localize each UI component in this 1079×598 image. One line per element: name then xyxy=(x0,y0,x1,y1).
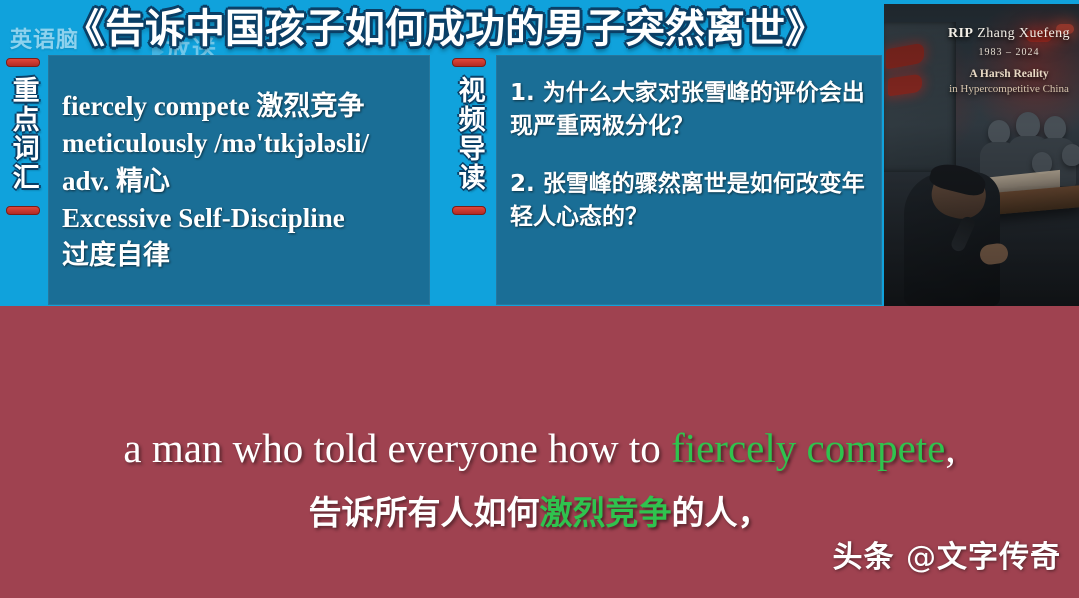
top-information-panel: 英语脑 放送 《告诉中国孩子如何成功的男子突然离世》 重点词汇 视频导读 fie… xyxy=(0,0,1079,306)
subtitle-chinese: 告诉所有人如何激烈竞争的人， xyxy=(0,486,1079,534)
subtitle-english-highlight: fiercely compete xyxy=(671,425,945,471)
crowd-silhouette xyxy=(1044,116,1066,140)
subtitle-chinese-highlight: 激烈竞争 xyxy=(540,493,672,532)
dash-divider-top xyxy=(6,58,40,67)
video-guide-questions-card: 1. 为什么大家对张雪峰的评价会出现严重两极分化？ 2. 张雪峰的骤然离世是如何… xyxy=(496,55,882,305)
crowd-silhouette xyxy=(1016,112,1040,138)
memorial-poster-image: RIP Zhang Xuefeng 1983 – 2024 A Harsh Re… xyxy=(884,4,1079,306)
vocabulary-line: adv. 精心 xyxy=(62,163,430,200)
subtitle-english: a man who told everyone how to fiercely … xyxy=(0,424,1079,472)
slumped-figure-hand xyxy=(979,242,1010,266)
crowd-silhouette xyxy=(988,120,1010,144)
dash-divider-bottom xyxy=(6,206,40,215)
brand-account-label: 文字传奇 xyxy=(937,540,1061,575)
guide-question-1: 1. 为什么大家对张雪峰的评价会出现严重两极分化？ xyxy=(510,77,870,142)
vocabulary-card: fiercely compete 激烈竞争 meticulously /mə't… xyxy=(48,55,430,305)
crowd-silhouette xyxy=(1062,144,1079,166)
subtitle-area: a man who told everyone how to fiercely … xyxy=(0,306,1079,598)
poster-text-block: RIP Zhang Xuefeng 1983 – 2024 A Harsh Re… xyxy=(942,26,1076,95)
poster-tagline-1: A Harsh Reality xyxy=(942,68,1076,80)
dash-divider-top xyxy=(452,58,486,67)
poster-rip-title: RIP Zhang Xuefeng xyxy=(942,26,1076,42)
at-symbol-icon: @ xyxy=(906,540,937,575)
poster-rip-name: Zhang Xuefeng xyxy=(977,26,1070,41)
page-title: 《告诉中国孩子如何成功的男子突然离世》 xyxy=(0,0,890,54)
vocabulary-line: fiercely compete 激烈竞争 xyxy=(62,88,430,125)
subtitle-chinese-before: 告诉所有人如何 xyxy=(309,493,540,532)
dash-divider-bottom xyxy=(452,206,486,215)
subtitle-english-after: , xyxy=(945,425,955,471)
poster-rip-prefix: RIP xyxy=(948,26,973,41)
section-label-video-guide: 视频导读 xyxy=(448,58,490,215)
brand-platform-label: 头条 xyxy=(833,540,895,575)
poster-life-dates: 1983 – 2024 xyxy=(942,47,1076,58)
section-label-video-guide-text: 视频导读 xyxy=(454,76,483,192)
subtitle-chinese-after: 的人， xyxy=(672,493,771,532)
vocabulary-line: 过度自律 xyxy=(62,237,430,274)
brand-watermark: 头条 @文字传奇 xyxy=(833,532,1061,576)
poster-tagline-2: in Hypercompetitive China xyxy=(942,83,1076,95)
guide-question-2: 2. 张雪峰的骤然离世是如何改变年轻人心态的？ xyxy=(510,168,870,233)
vocabulary-line: Excessive Self-Discipline xyxy=(62,200,430,237)
subtitle-english-before: a man who told everyone how to xyxy=(123,425,671,471)
section-label-vocabulary: 重点词汇 xyxy=(2,58,44,215)
section-label-vocabulary-text: 重点词汇 xyxy=(8,76,37,192)
vocabulary-line: meticulously /mə'tɪkjələsli/ xyxy=(62,125,430,162)
